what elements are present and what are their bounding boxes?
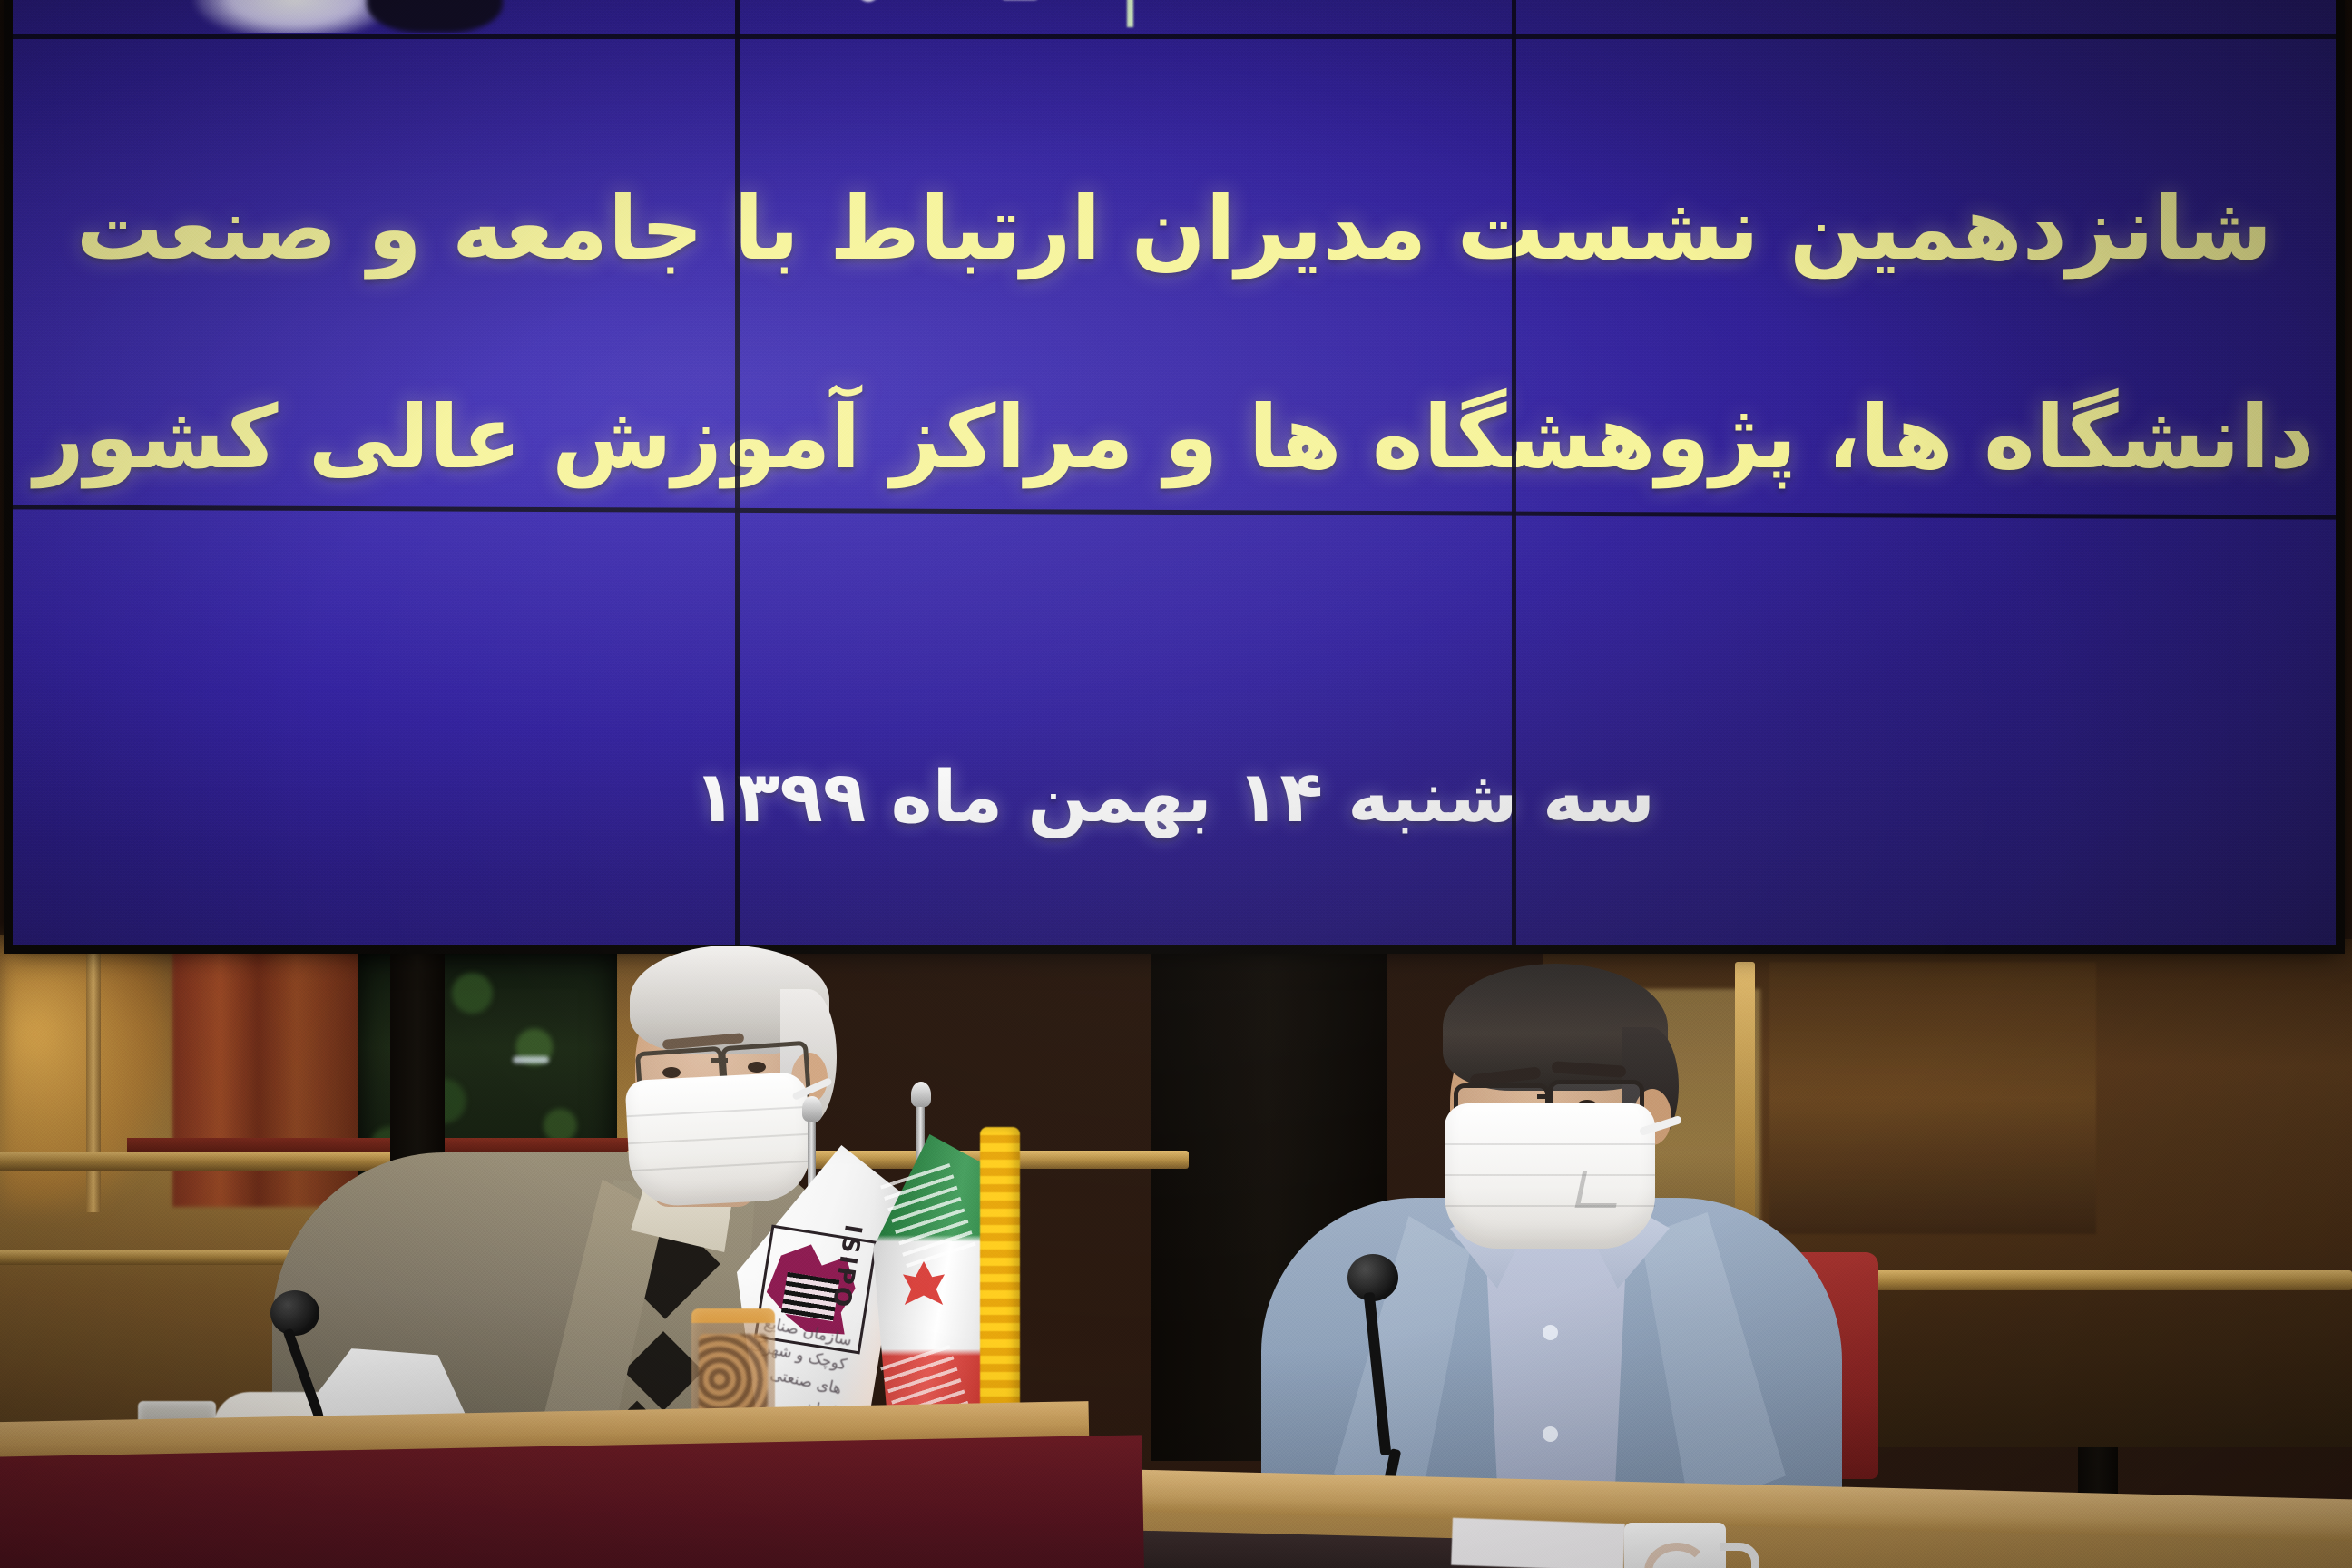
microphone-head-icon — [270, 1290, 319, 1336]
flag-finial-organization — [802, 1096, 822, 1122]
window-reflection — [513, 1056, 549, 1063]
mask-fold-3 — [1445, 1205, 1655, 1207]
right-person-shirt-button-1 — [1543, 1325, 1558, 1340]
right-person-eyeglass-bridge — [1537, 1094, 1553, 1099]
left-person-eyeglass-bridge — [711, 1058, 728, 1063]
window-mullion-vertical — [86, 940, 101, 1212]
window-upper-frame — [127, 1138, 635, 1152]
video-wall-display[interactable]: شانزدهمین نشست مدیران ارتباط با جامعه و … — [13, 0, 2336, 945]
right-person-face-mask — [1445, 1103, 1655, 1249]
right-person-mask-logo — [1575, 1171, 1624, 1208]
display-vignette — [13, 0, 2336, 945]
screenshot-root: شانزدهمین نشست مدیران ارتباط با جامعه و … — [0, 0, 2352, 1568]
left-person-eye-2 — [748, 1062, 766, 1073]
right-person-shirt-button-2 — [1543, 1426, 1558, 1442]
left-person-eye-1 — [662, 1067, 681, 1078]
left-person-face-mask — [624, 1072, 812, 1208]
mask-fold-1 — [626, 1106, 808, 1117]
mask-fold-1 — [1445, 1143, 1655, 1145]
mask-fold-2 — [628, 1133, 809, 1144]
flag-finial-iran — [911, 1082, 931, 1107]
paper-sheet — [1451, 1518, 1625, 1568]
mask-fold-2 — [1445, 1174, 1655, 1176]
mask-fold-3 — [630, 1161, 811, 1171]
right-wall-panel — [1769, 962, 2096, 1234]
coffee-mug — [1624, 1523, 1726, 1568]
table-apron-left — [0, 1435, 1145, 1568]
